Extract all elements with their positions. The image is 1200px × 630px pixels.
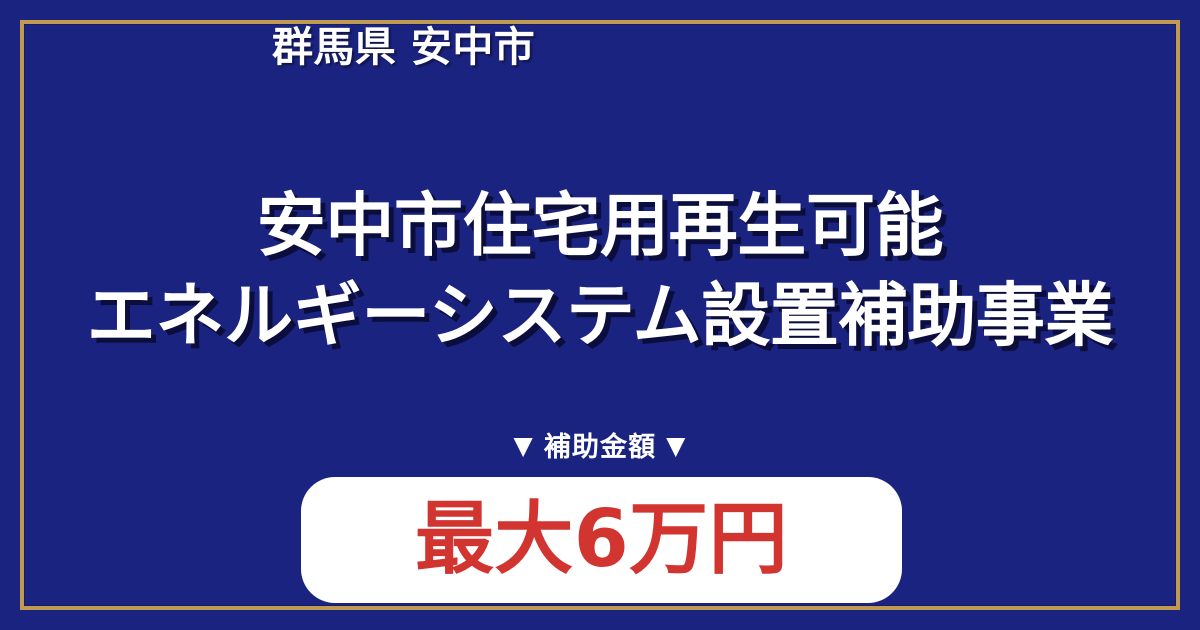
title-line-2: エネルギーシステム設置補助事業: [0, 272, 1200, 362]
region-label: 群馬県 安中市: [272, 22, 535, 73]
subsidy-amount-value: 最大6万円: [415, 500, 788, 579]
subsidy-amount-label: ▼補助金額▼: [0, 425, 1200, 464]
triangle-down-right-icon: ▼: [666, 431, 686, 460]
subsidy-amount-label-text: 補助金額: [534, 425, 666, 464]
title-line-1: 安中市住宅用再生可能: [0, 182, 1200, 272]
subsidy-poster: 群馬県 安中市 安中市住宅用再生可能 エネルギーシステム設置補助事業 ▼補助金額…: [0, 0, 1200, 630]
subsidy-amount-pill: 最大6万円: [301, 477, 902, 603]
triangle-down-left-icon: ▼: [514, 431, 534, 460]
page-title: 安中市住宅用再生可能 エネルギーシステム設置補助事業: [0, 182, 1200, 361]
